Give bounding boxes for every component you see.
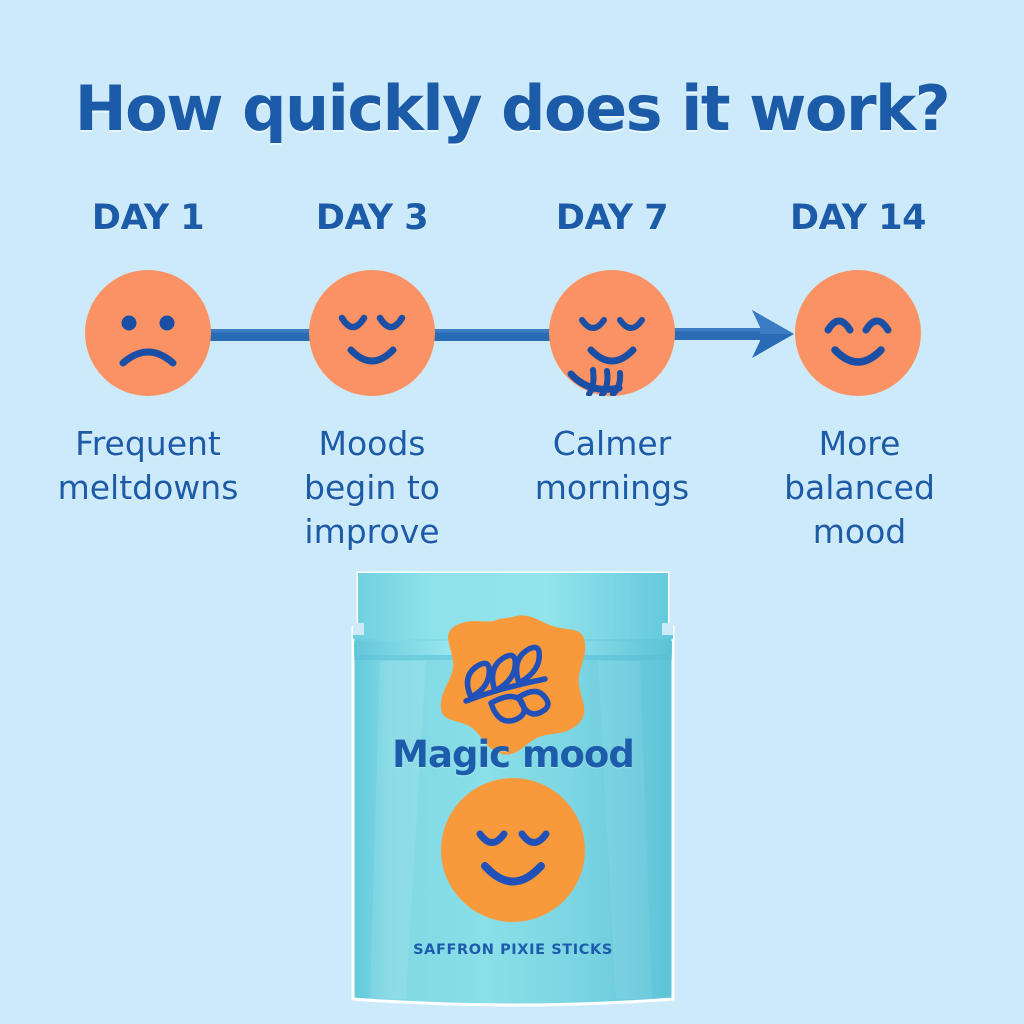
caption-line: meltdowns (58, 468, 239, 507)
caption-line: mood (813, 512, 906, 551)
product-variant-name: SAFFRON PIXIE STICKS (340, 942, 686, 958)
happy-face-icon (795, 270, 921, 396)
caption-day-4: More balanced mood (752, 422, 967, 554)
caption-line: Moods (319, 424, 426, 463)
page-title: How quickly does it work? (0, 72, 1024, 145)
day-label-1: DAY 1 (48, 198, 248, 238)
caption-day-3: Calmer mornings (512, 422, 712, 510)
pouch-labels: Magic mood SAFFRON PIXIE STICKS (340, 565, 686, 1015)
product-brand-name: Magic mood (340, 733, 686, 776)
caption-day-1: Frequent meltdowns (38, 422, 258, 510)
face-icon-day-2 (309, 270, 435, 396)
day-label-3: DAY 7 (512, 198, 712, 238)
face-icon-day-4 (795, 270, 921, 396)
connector-arrow-3 (674, 308, 796, 360)
calm-smiling-face-icon (309, 270, 435, 396)
face-icon-day-3 (549, 270, 675, 396)
caption-line: mornings (535, 468, 689, 507)
product-pouch: Magic mood SAFFRON PIXIE STICKS (340, 565, 686, 1015)
sad-face-icon (85, 270, 211, 396)
caption-day-2: Moods begin to improve (272, 422, 472, 554)
caption-line: More (819, 424, 901, 463)
caption-line: Calmer (553, 424, 671, 463)
caption-line: improve (304, 512, 439, 551)
day-label-4: DAY 14 (758, 198, 958, 238)
day-label-2: DAY 3 (272, 198, 472, 238)
infographic-canvas: How quickly does it work? DAY 1 DAY 3 DA… (0, 0, 1024, 1024)
caption-line: Frequent (75, 424, 221, 463)
relaxed-face-icon (549, 270, 675, 396)
face-icon-day-1 (85, 270, 211, 396)
timeline: DAY 1 DAY 3 DAY 7 DAY 14 (0, 190, 1024, 570)
caption-line: balanced (784, 468, 935, 507)
caption-line: begin to (304, 468, 440, 507)
